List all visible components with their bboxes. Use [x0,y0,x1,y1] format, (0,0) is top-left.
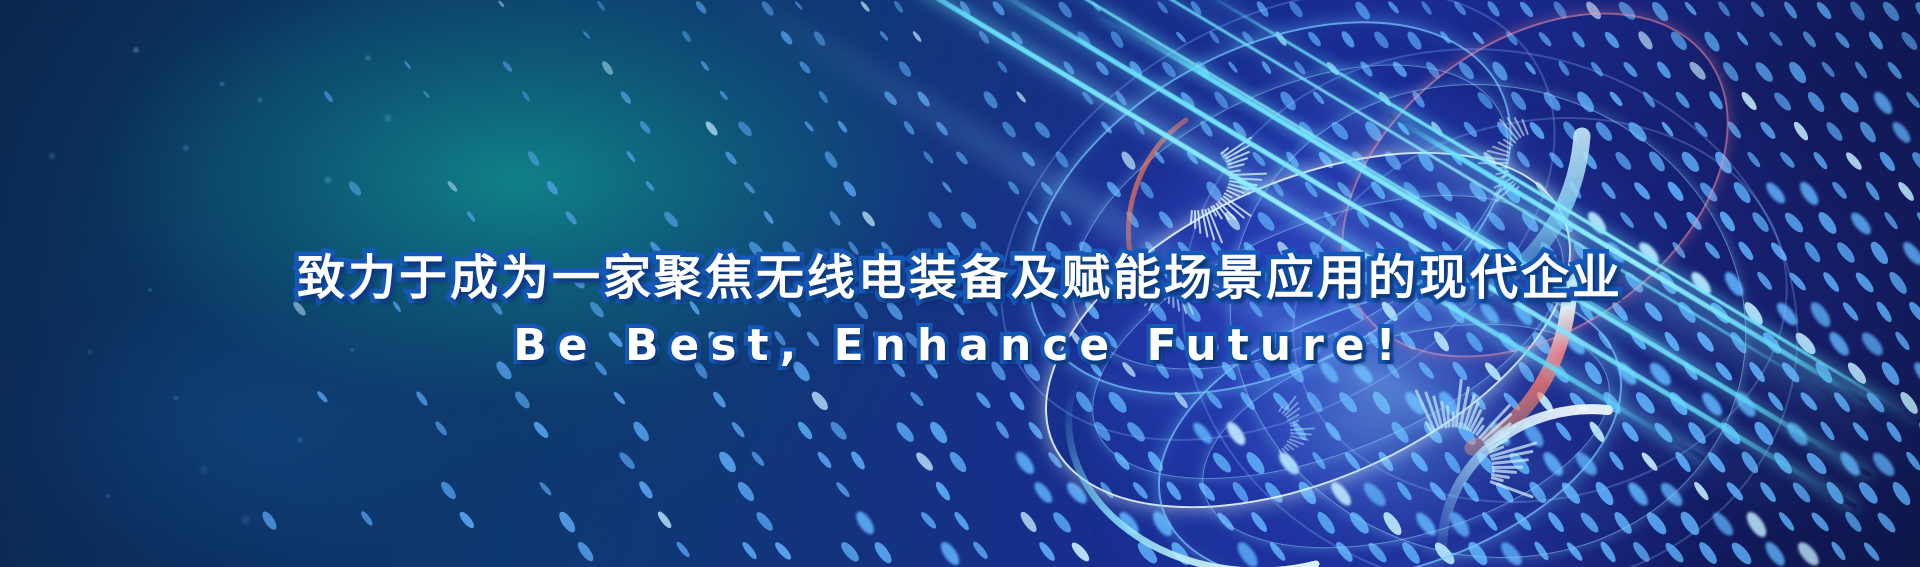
headline-english: Be Best, Enhance Future! [0,313,1920,379]
headline-chinese: 致力于成为一家聚焦无线电装备及赋能场景应用的现代企业 [0,247,1920,309]
hero-banner: 致力于成为一家聚焦无线电装备及赋能场景应用的现代企业 Be Best, Enha… [0,0,1920,567]
hero-text-block: 致力于成为一家聚焦无线电装备及赋能场景应用的现代企业 Be Best, Enha… [0,247,1920,379]
